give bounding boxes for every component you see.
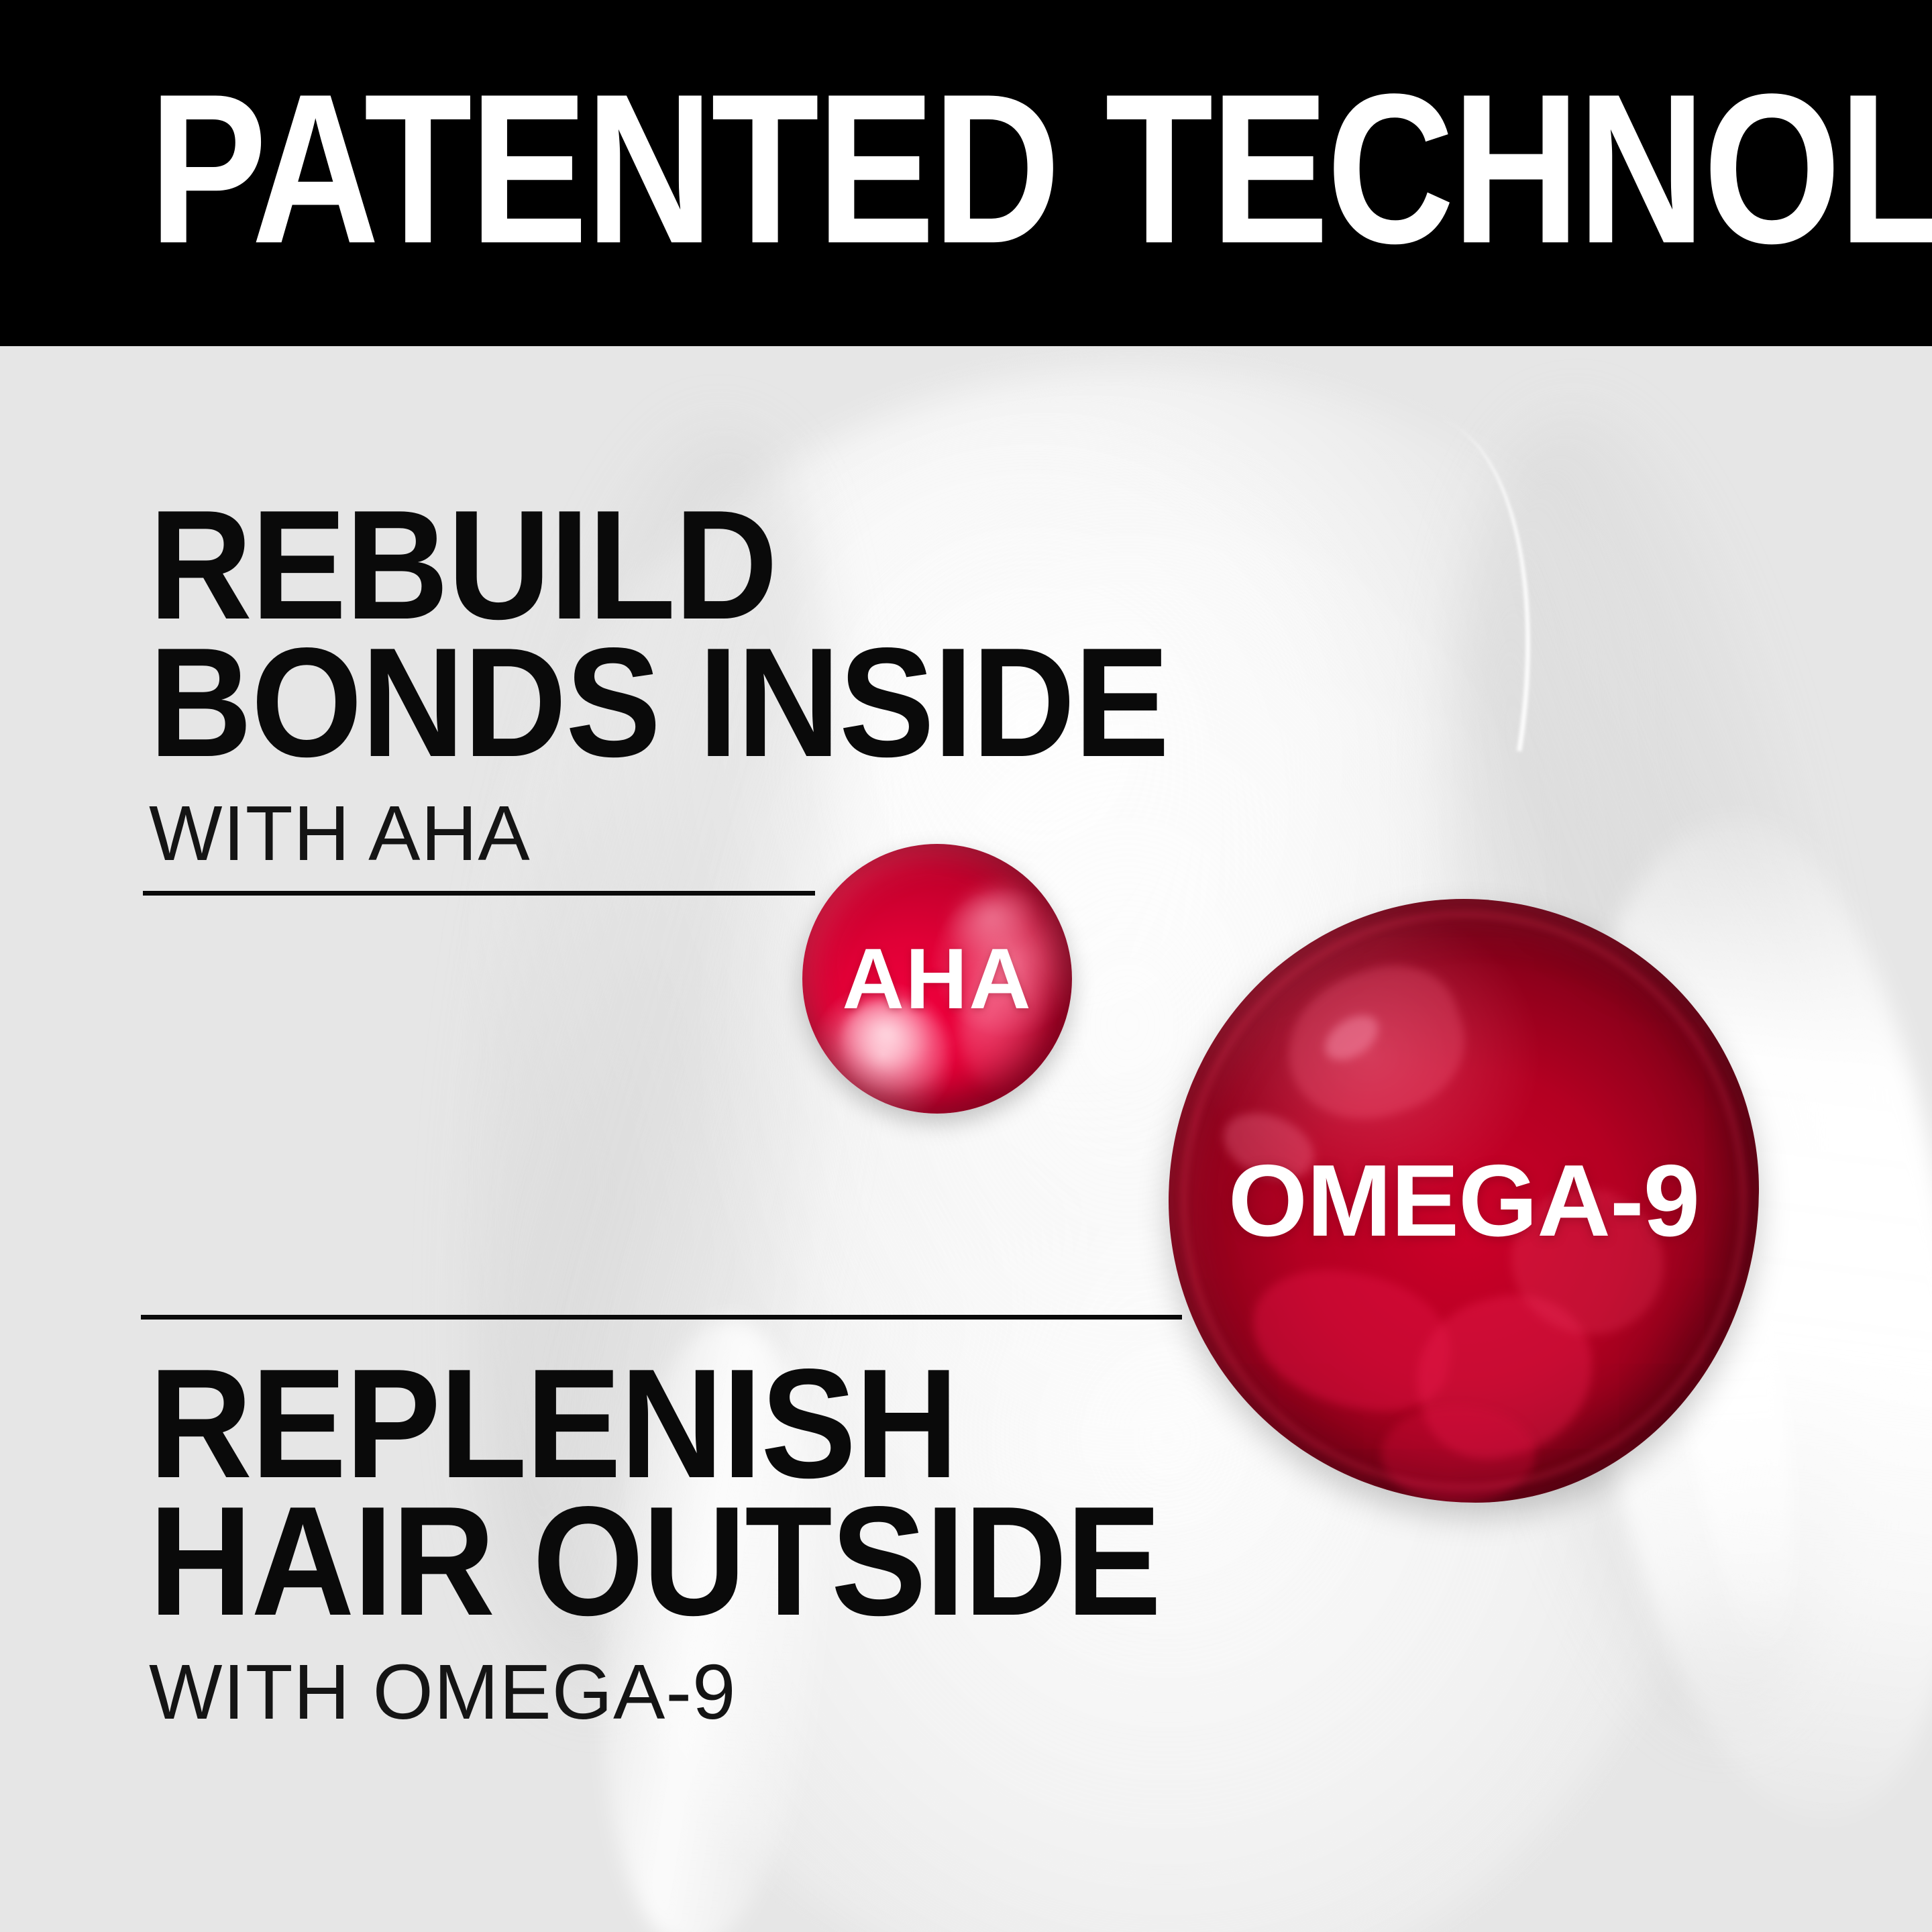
connector-line-omega bbox=[141, 1315, 1182, 1320]
callout-rebuild-heading-line2: BONDS INSIDE bbox=[149, 634, 1169, 771]
aha-bead-label: AHA bbox=[802, 844, 1072, 1114]
callout-rebuild-heading-line1: REBUILD bbox=[149, 496, 1169, 634]
omega9-bead: OMEGA-9 bbox=[1169, 899, 1759, 1503]
product-infographic: PATENTED TECHNOLOGY REBUILD BONDS INSIDE… bbox=[0, 0, 1932, 1932]
connector-line-aha bbox=[143, 891, 815, 896]
callout-rebuild-heading: REBUILD BONDS INSIDE bbox=[149, 496, 1169, 771]
callout-replenish-subtitle: WITH OMEGA-9 bbox=[149, 1653, 1248, 1731]
callout-rebuild-subtitle: WITH AHA bbox=[149, 794, 1257, 872]
callout-replenish-hair: REPLENISH HAIR OUTSIDE WITH OMEGA-9 bbox=[149, 1355, 1248, 1731]
page-title: PATENTED TECHNOLOGY bbox=[149, 62, 1932, 275]
aha-bead: AHA bbox=[802, 844, 1072, 1114]
callout-replenish-heading: REPLENISH HAIR OUTSIDE bbox=[149, 1355, 1161, 1630]
callout-rebuild-bonds: REBUILD BONDS INSIDE WITH AHA bbox=[149, 496, 1257, 872]
omega9-bead-label: OMEGA-9 bbox=[1169, 899, 1759, 1503]
header-band: PATENTED TECHNOLOGY bbox=[0, 0, 1932, 346]
callout-replenish-heading-line1: REPLENISH bbox=[149, 1355, 1161, 1493]
callout-replenish-heading-line2: HAIR OUTSIDE bbox=[149, 1493, 1161, 1630]
